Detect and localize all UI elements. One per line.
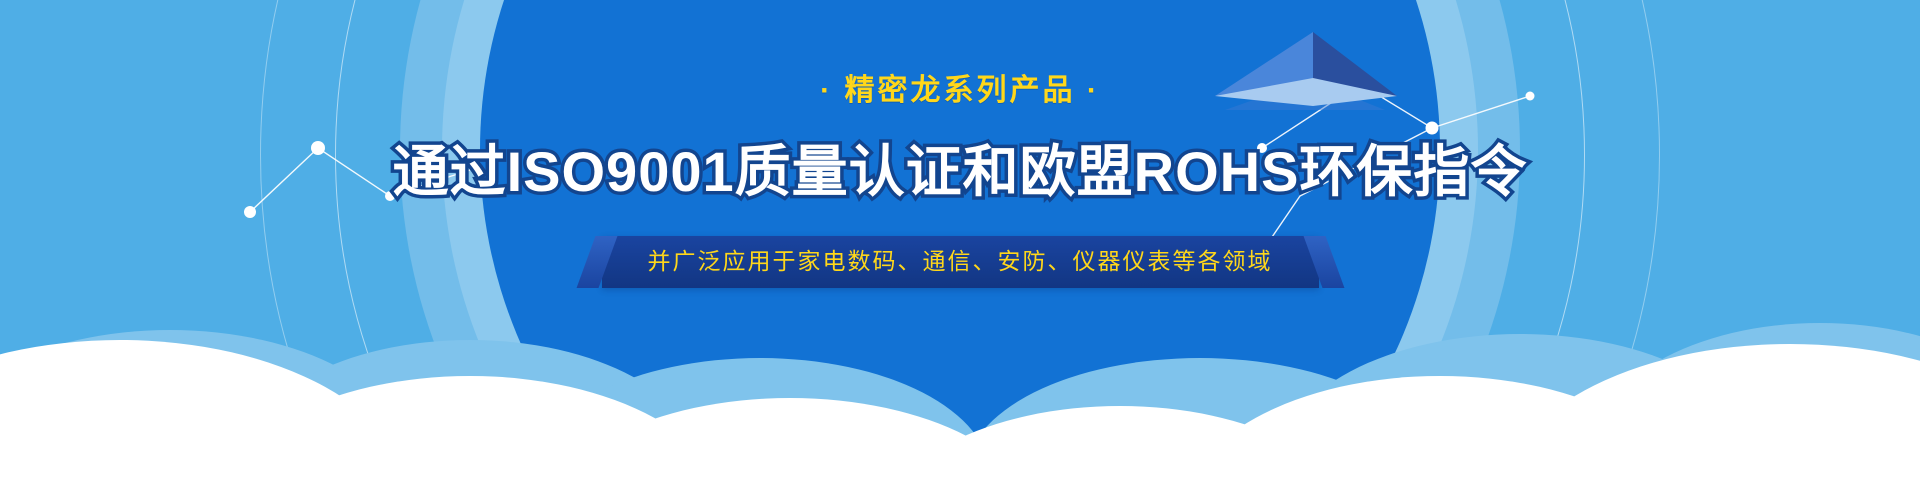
- pyramid-icon: [1205, 18, 1405, 128]
- promo-banner: · 精密龙系列产品 · 通过ISO9001质量认证和欧盟ROHS环保指令 并广泛…: [0, 0, 1920, 480]
